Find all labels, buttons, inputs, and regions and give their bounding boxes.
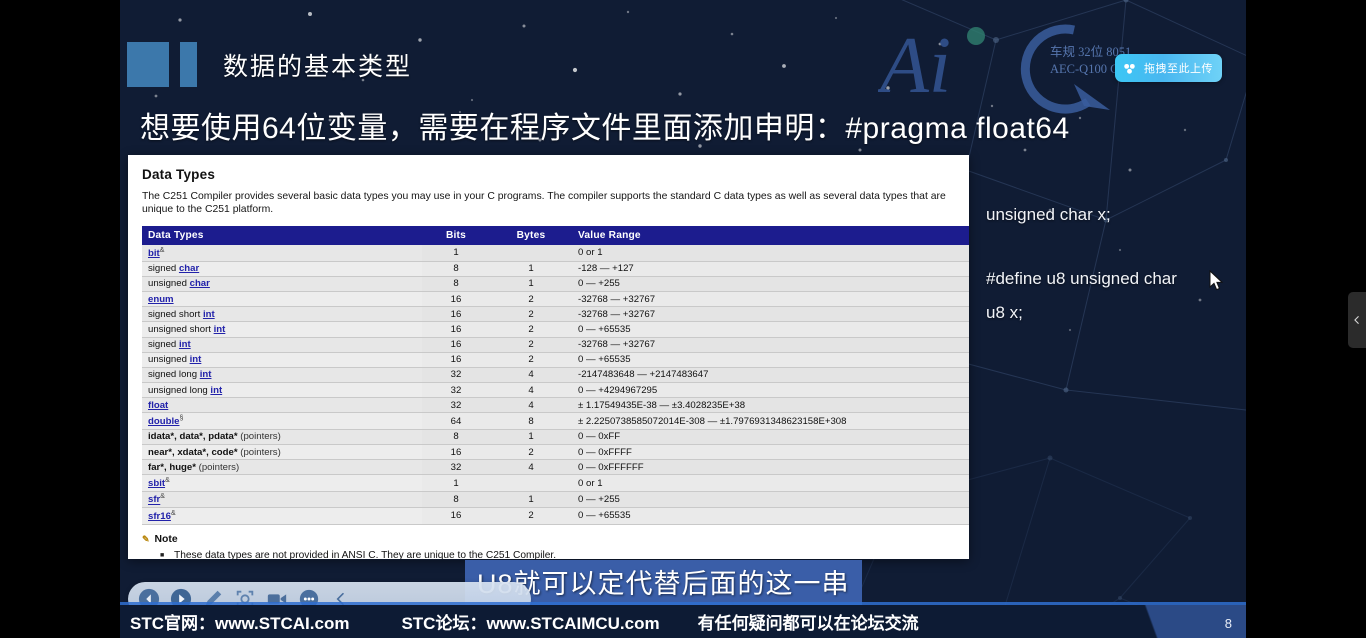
data-types-table-body: bit&10 or 1signed char81-128 — +127unsig…	[142, 245, 969, 524]
table-row: near*, xdata*, code* (pointers)1620 — 0x…	[142, 445, 969, 460]
cell-bytes	[490, 245, 572, 261]
keil-doc-card: Data Types The C251 Compiler provides se…	[128, 155, 969, 559]
footnote-marker: &	[160, 247, 165, 254]
type-link[interactable]: char	[190, 278, 210, 289]
type-link[interactable]: sfr	[148, 495, 160, 506]
cell-bits: 16	[422, 352, 490, 367]
slide-title-row: 数据的基本类型	[127, 42, 412, 87]
type-link[interactable]: enum	[148, 294, 174, 305]
type-link[interactable]: sfr16	[148, 511, 171, 522]
cell-bytes: 4	[490, 367, 572, 382]
cloud-upload-icon	[1121, 60, 1138, 77]
footnote-marker: &	[160, 493, 165, 500]
doc-intro: The C251 Compiler provides several basic…	[142, 191, 957, 216]
col-value-range: Value Range	[572, 226, 969, 245]
table-row: signed char81-128 — +127	[142, 261, 969, 276]
cell-range: 0 or 1	[572, 475, 969, 491]
slide-stage: Ai 车规 32位 8051 AEC-Q100 Grade 1 拖拽至此上传 数…	[120, 0, 1246, 638]
table-row: sfr&810 — +255	[142, 491, 969, 507]
cell-range: 0 — +65535	[572, 322, 969, 337]
cell-type: signed char	[142, 261, 422, 276]
code-line-3: u8 x;	[986, 296, 1177, 330]
note-list: These data types are not provided in ANS…	[160, 549, 957, 560]
doc-heading: Data Types	[142, 167, 957, 182]
cell-range: 0 — +255	[572, 276, 969, 291]
table-row: idata*, data*, pdata* (pointers)810 — 0x…	[142, 429, 969, 444]
note-title-row: ✎ Note	[142, 534, 957, 545]
chevron-left-icon	[1352, 313, 1362, 327]
cell-range: ± 2.2250738585072014E-308 — ±1.797693134…	[572, 413, 969, 429]
table-row: unsigned int1620 — +65535	[142, 352, 969, 367]
type-link[interactable]: sbit	[148, 478, 165, 489]
cell-range: 0 — 0xFF	[572, 429, 969, 444]
page-number-wedge	[1066, 605, 1246, 638]
slide-subtitle: 想要使用64位变量，需要在程序文件里面添加申明：#pragma float64	[140, 103, 1070, 147]
cell-bytes: 8	[490, 413, 572, 429]
cell-type: float	[142, 398, 422, 413]
upload-badge-label: 拖拽至此上传	[1144, 60, 1213, 76]
title-accent-square-1	[127, 42, 169, 87]
cell-type: unsigned long int	[142, 383, 422, 398]
cell-bits: 32	[422, 460, 490, 475]
caption-text: U8就可以定代替后面的这一串	[477, 569, 850, 599]
type-link[interactable]: char	[179, 263, 199, 274]
table-row: far*, huge* (pointers)3240 — 0xFFFFFF	[142, 460, 969, 475]
upload-badge[interactable]: 拖拽至此上传	[1115, 54, 1222, 82]
cell-range: 0 — 0xFFFFFF	[572, 460, 969, 475]
cell-bits: 16	[422, 508, 490, 524]
table-row: signed long int324-2147483648 — +2147483…	[142, 367, 969, 382]
cell-bits: 16	[422, 291, 490, 306]
cell-bits: 32	[422, 383, 490, 398]
type-link[interactable]: int	[200, 369, 212, 380]
col-bits: Bits	[422, 226, 490, 245]
cell-bytes: 4	[490, 460, 572, 475]
col-bytes: Bytes	[490, 226, 572, 245]
cell-bits: 1	[422, 475, 490, 491]
cell-bits: 8	[422, 429, 490, 444]
cell-bits: 8	[422, 276, 490, 291]
cell-range: -128 — +127	[572, 261, 969, 276]
cell-bits: 32	[422, 367, 490, 382]
cell-bytes: 4	[490, 398, 572, 413]
cell-bits: 16	[422, 322, 490, 337]
title-accent-square-2	[180, 42, 197, 87]
code-line-2: #define u8 unsigned char	[986, 262, 1177, 296]
table-row: sfr16&1620 — +65535	[142, 508, 969, 524]
doc-note-section: ✎ Note These data types are not provided…	[142, 534, 957, 560]
data-types-table: Data Types Bits Bytes Value Range bit&10…	[142, 226, 969, 524]
cell-bytes: 2	[490, 322, 572, 337]
footer-note: 有任何疑问都可以在论坛交流	[698, 609, 919, 634]
table-row: unsigned long int3240 — +4294967295	[142, 383, 969, 398]
cell-bytes: 2	[490, 352, 572, 367]
footer-bar: STC官网：www.STCAI.com STC论坛：www.STCAIMCU.c…	[120, 605, 1246, 638]
cell-bits: 64	[422, 413, 490, 429]
cell-type: signed short int	[142, 307, 422, 322]
type-link[interactable]: int	[210, 385, 222, 396]
panel-toggle-button[interactable]	[1348, 292, 1366, 348]
code-line-1: unsigned char x;	[986, 198, 1177, 232]
cell-range: 0 — +65535	[572, 352, 969, 367]
type-link[interactable]: float	[148, 400, 168, 411]
cell-bits: 32	[422, 398, 490, 413]
note-icon: ✎	[142, 534, 150, 545]
cell-type: sfr16&	[142, 508, 422, 524]
note-item-1: These data types are not provided in ANS…	[160, 549, 957, 560]
cell-range: 0 — +255	[572, 491, 969, 507]
cell-type: idata*, data*, pdata* (pointers)	[142, 429, 422, 444]
table-row: sbit&10 or 1	[142, 475, 969, 491]
cell-type: double§	[142, 413, 422, 429]
cell-bytes: 4	[490, 383, 572, 398]
cell-type: unsigned short int	[142, 322, 422, 337]
cell-range: 0 — +65535	[572, 508, 969, 524]
type-link[interactable]: int	[179, 339, 191, 350]
cell-type: far*, huge* (pointers)	[142, 460, 422, 475]
type-link[interactable]: int	[190, 354, 202, 365]
footnote-marker: &	[165, 477, 170, 484]
cell-bytes: 2	[490, 307, 572, 322]
col-data-types: Data Types	[142, 226, 422, 245]
cell-range: 0 — +4294967295	[572, 383, 969, 398]
svg-text:Ai: Ai	[878, 22, 951, 110]
cell-type: enum	[142, 291, 422, 306]
type-link[interactable]: bit	[148, 248, 160, 259]
cell-range: -32768 — +32767	[572, 307, 969, 322]
table-header-row: Data Types Bits Bytes Value Range	[142, 226, 969, 245]
table-row: signed int162-32768 — +32767	[142, 337, 969, 352]
cell-range: -2147483648 — +2147483647	[572, 367, 969, 382]
cell-range: 0 — 0xFFFF	[572, 445, 969, 460]
type-link[interactable]: double	[148, 416, 179, 427]
page-number: 8	[1225, 616, 1232, 631]
type-link[interactable]: int	[203, 309, 215, 320]
screen-root: Ai 车规 32位 8051 AEC-Q100 Grade 1 拖拽至此上传 数…	[0, 0, 1366, 638]
cell-type: signed long int	[142, 367, 422, 382]
footer-website[interactable]: STC官网：www.STCAI.com	[130, 609, 349, 634]
cell-range: 0 or 1	[572, 245, 969, 261]
cell-type: bit&	[142, 245, 422, 261]
cell-range: -32768 — +32767	[572, 337, 969, 352]
cell-bytes: 1	[490, 276, 572, 291]
cell-type: near*, xdata*, code* (pointers)	[142, 445, 422, 460]
cell-bits: 1	[422, 245, 490, 261]
footnote-marker: &	[171, 510, 176, 517]
footnote-marker: §	[179, 415, 183, 422]
table-row: double§648± 2.2250738585072014E-308 — ±1…	[142, 413, 969, 429]
cell-bits: 8	[422, 261, 490, 276]
cell-bytes: 1	[490, 261, 572, 276]
table-row: enum162-32768 — +32767	[142, 291, 969, 306]
note-title: Note	[155, 534, 178, 545]
table-row: signed short int162-32768 — +32767	[142, 307, 969, 322]
cell-type: unsigned char	[142, 276, 422, 291]
cell-bytes: 1	[490, 429, 572, 444]
cell-bits: 16	[422, 337, 490, 352]
type-link[interactable]: int	[214, 324, 226, 335]
cell-bits: 16	[422, 307, 490, 322]
cell-bytes	[490, 475, 572, 491]
cell-bytes: 2	[490, 291, 572, 306]
footer-forum[interactable]: STC论坛：www.STCAIMCU.com	[401, 609, 659, 634]
table-row: unsigned char810 — +255	[142, 276, 969, 291]
code-notes: unsigned char x; #define u8 unsigned cha…	[986, 198, 1177, 330]
table-row: bit&10 or 1	[142, 245, 969, 261]
cell-bits: 16	[422, 445, 490, 460]
cell-type: sfr&	[142, 491, 422, 507]
cell-bytes: 1	[490, 491, 572, 507]
table-row: float324± 1.17549435E-38 — ±3.4028235E+3…	[142, 398, 969, 413]
cell-range: -32768 — +32767	[572, 291, 969, 306]
cell-bytes: 2	[490, 337, 572, 352]
cell-bytes: 2	[490, 445, 572, 460]
cell-bytes: 2	[490, 508, 572, 524]
cell-bits: 8	[422, 491, 490, 507]
cell-type: sbit&	[142, 475, 422, 491]
cell-type: unsigned int	[142, 352, 422, 367]
cell-type: signed int	[142, 337, 422, 352]
page-title: 数据的基本类型	[223, 47, 412, 83]
table-row: unsigned short int1620 — +65535	[142, 322, 969, 337]
cell-range: ± 1.17549435E-38 — ±3.4028235E+38	[572, 398, 969, 413]
